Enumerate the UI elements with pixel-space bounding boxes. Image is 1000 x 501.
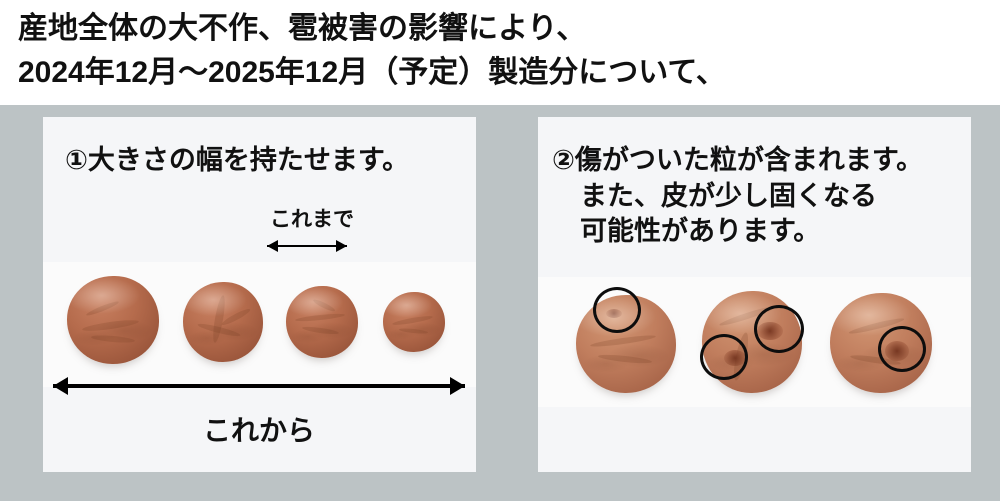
wrinkle [220,307,251,327]
arrow-new-range [53,385,465,387]
arrow-head-right [336,240,347,252]
wrinkle [392,315,433,327]
arrow-head-right [450,377,465,395]
plum-small [286,286,358,358]
wrinkle [82,318,139,333]
panel-blemishes: ②傷がついた粒が含まれます。 また、皮が少し固くなる 可能性があります。 [538,117,971,472]
wrinkle [197,322,241,338]
panel-right-title: ②傷がついた粒が含まれます。 また、皮が少し固くなる 可能性があります。 [552,143,923,250]
wrinkle [86,300,120,318]
defect-circle-2 [754,305,804,353]
label-korematde: これまで [270,209,354,230]
wrinkle [302,325,340,335]
slide-screenshot: 産地全体の大不作、雹被害の影響により、 2024年12月～2025年12月（予定… [0,0,1000,501]
wrinkle [91,334,136,344]
wrinkle [295,312,346,322]
photo-blemish-examples [538,277,971,407]
defect-circle-4 [878,326,926,372]
header-line-1: 産地全体の大不作、雹被害の影響により、 [18,14,586,44]
label-korekara: これから [203,417,315,445]
defect-circle-1 [593,287,641,333]
panel-right-title-line-2: また、皮が少し固くなる [552,179,923,215]
wrinkle [590,334,656,349]
arrow-previous-range [267,245,347,247]
defect-circle-3 [700,334,748,380]
wrinkle [598,353,652,365]
header-line-2: 2024年12月～2025年12月（予定）製造分について、 [18,58,726,88]
arrow-shaft [267,245,347,247]
wrinkle [399,328,428,335]
header-banner: 産地全体の大不作、雹被害の影響により、 2024年12月～2025年12月（予定… [0,0,1000,105]
panel-right-title-line-3: 可能性があります。 [552,214,923,250]
plum-medium [183,282,263,362]
panel-right-title-line-1: ②傷がついた粒が含まれます。 [552,145,923,175]
plum-large [67,276,159,364]
panel-size-range: ①大きさの幅を持たせます。 これまで [43,117,476,472]
wrinkle [211,294,227,343]
arrow-shaft [53,384,465,388]
plum-extra-small [383,292,445,352]
wrinkle [312,298,336,313]
arrow-head-left [267,240,278,252]
arrow-head-left [53,377,68,395]
panel-left-title: ①大きさの幅を持たせます。 [65,143,409,179]
photo-size-comparison [43,262,476,387]
